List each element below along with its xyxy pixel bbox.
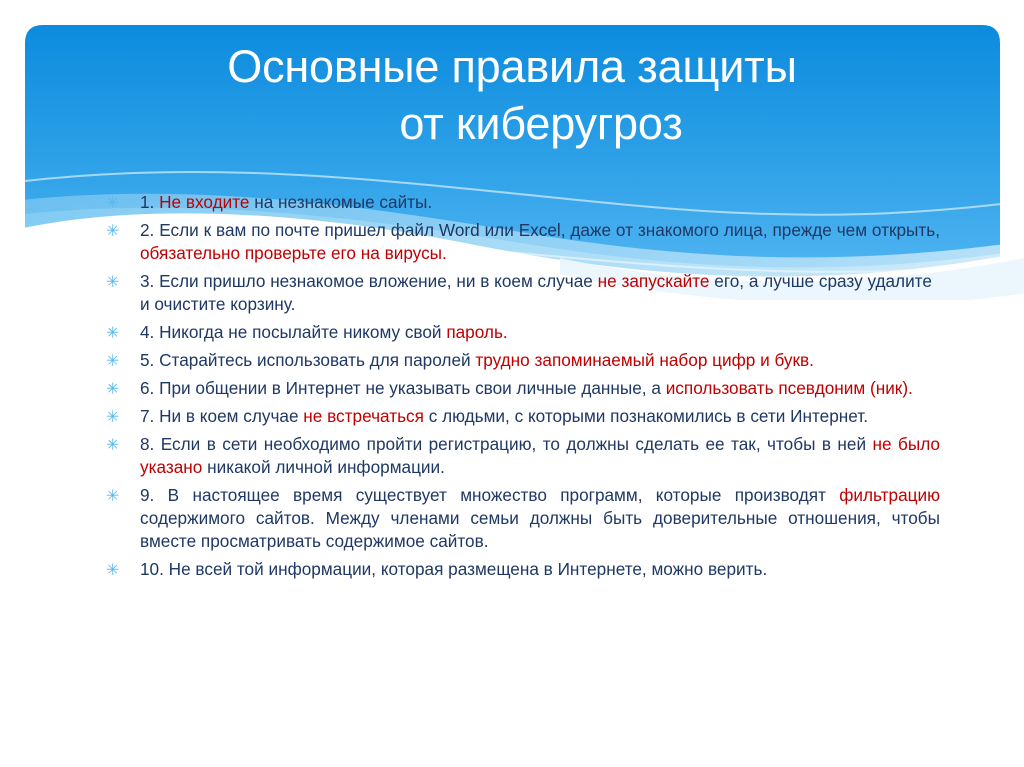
rule-item: ✳7. Ни в коем случае не встречаться с лю… [100, 405, 940, 428]
rule-text-emphasis: не встречаться [303, 406, 424, 426]
rule-text: 8. Если в сети необходимо пройти регистр… [140, 434, 873, 454]
rule-text-emphasis: фильтрацию [839, 485, 940, 505]
slide-title: Основные правила защиты от киберугроз [60, 38, 964, 152]
rule-item: ✳5. Старайтесь использовать для паролей … [100, 349, 940, 372]
title-line-2: от киберугроз [60, 95, 964, 152]
rule-text: 2. Если к вам по почте пришел файл Word … [140, 220, 940, 240]
slide: Основные правила защиты от киберугроз ✳1… [0, 0, 1024, 767]
bullet-asterisk-icon: ✳ [106, 322, 119, 345]
bullet-asterisk-icon: ✳ [106, 350, 119, 373]
rule-text: 10. Не всей той информации, которая разм… [140, 559, 767, 579]
bullet-asterisk-icon: ✳ [106, 220, 119, 243]
bullet-asterisk-icon: ✳ [106, 378, 119, 401]
rule-text: с людьми, с которыми познакомились в сет… [424, 406, 868, 426]
rule-text: 4. Никогда не посылайте никому свой [140, 322, 446, 342]
rule-item: ✳2. Если к вам по почте пришел файл Word… [100, 219, 940, 265]
rule-item: ✳4. Никогда не посылайте никому свой пар… [100, 321, 940, 344]
rule-item: ✳3. Если пришло незнакомое вложение, ни … [100, 270, 940, 316]
rule-text-emphasis: пароль. [446, 322, 507, 342]
rule-text: 3. Если пришло незнакомое вложение, ни в… [140, 271, 598, 291]
rules-list: ✳1. Не входите на незнакомые сайты.✳2. Е… [100, 191, 940, 581]
bullet-asterisk-icon: ✳ [106, 485, 119, 508]
rule-item: ✳8. Если в сети необходимо пройти регист… [100, 433, 940, 479]
rule-text: никакой личной информации. [202, 457, 445, 477]
bullet-asterisk-icon: ✳ [106, 434, 119, 457]
rule-text-emphasis: трудно запоминаемый набор цифр и букв. [475, 350, 814, 370]
rule-text-emphasis: обязательно проверьте его на вирусы. [140, 243, 447, 263]
rule-text: содержимого сайтов. Между членами семьи … [140, 508, 940, 551]
rule-text: 7. Ни в коем случае [140, 406, 303, 426]
rule-text-emphasis: использовать псевдоним (ник). [666, 378, 913, 398]
rule-text: 9. В настоящее время существует множеств… [140, 485, 839, 505]
rule-text: 1. [140, 192, 159, 212]
bullet-asterisk-icon: ✳ [106, 559, 119, 582]
rule-text-emphasis: не запускайте [598, 271, 710, 291]
rule-item: ✳1. Не входите на незнакомые сайты. [100, 191, 940, 214]
title-line-1: Основные правила защиты [60, 38, 964, 95]
rule-item: ✳9. В настоящее время существует множест… [100, 484, 940, 553]
rule-text: 5. Старайтесь использовать для паролей [140, 350, 475, 370]
rule-text: на незнакомые сайты. [249, 192, 432, 212]
rule-text: 6. При общении в Интернет не указывать с… [140, 378, 666, 398]
bullet-asterisk-icon: ✳ [106, 192, 119, 215]
bullet-asterisk-icon: ✳ [106, 271, 119, 294]
rule-text-emphasis: Не входите [159, 192, 249, 212]
rule-item: ✳10. Не всей той информации, которая раз… [100, 558, 940, 581]
rule-item: ✳6. При общении в Интернет не указывать … [100, 377, 940, 400]
bullet-asterisk-icon: ✳ [106, 406, 119, 429]
